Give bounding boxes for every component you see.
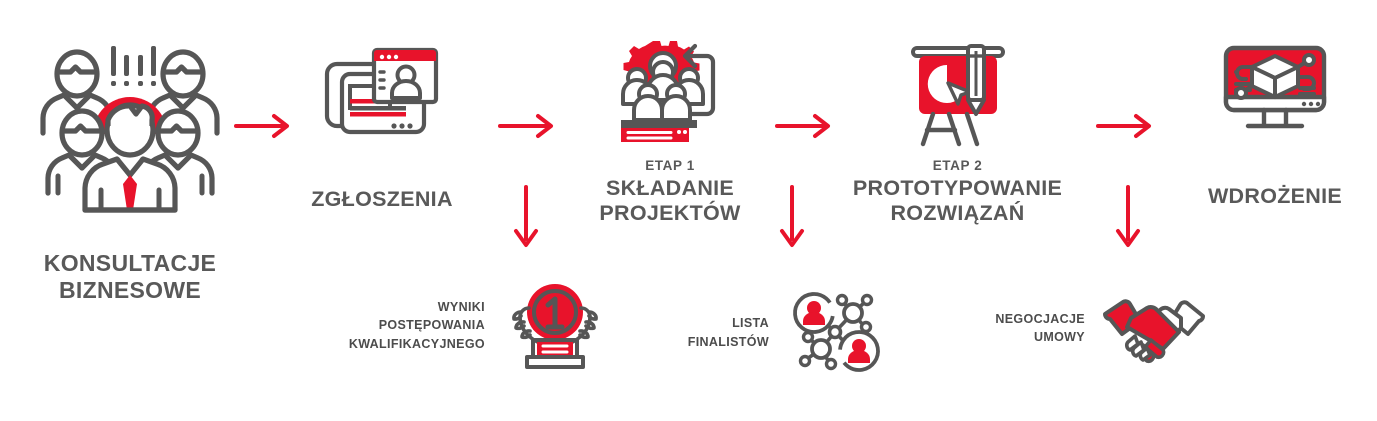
flow-arrow-down-1 [510, 185, 542, 253]
branch-node-negocjacje: NEGOCJACJE UMOWY [975, 288, 1209, 368]
process-flow-diagram: KONSULTACJE BIZNESOWE [0, 0, 1377, 421]
flow-node-prototypowanie: ETAP 2 PROTOTYPOWANIE ROZWIĄZAŃ [845, 36, 1070, 227]
flow-node-skladanie: ETAP 1 SKŁADANIE PROJEKTÓW [570, 36, 770, 227]
handshake-icon [1099, 288, 1209, 368]
branch-label-wyniki: WYNIKI POSTĘPOWANIA KWALIFIKACYJNEGO [335, 298, 485, 352]
discussion-marks [111, 46, 156, 86]
flow-node-label-skladanie: SKŁADANIE PROJEKTÓW [570, 176, 770, 227]
network-people-icon [783, 285, 883, 380]
flow-node-wdrozenie: WDROŻENIE [1175, 42, 1375, 209]
application-windows-profile-icon [322, 42, 442, 147]
flow-arrow-right-2 [498, 110, 558, 142]
team-gear-submission-icon [615, 36, 725, 146]
easel-chart-pencil-icon [899, 36, 1017, 148]
flow-node-label-konsultacje: KONSULTACJE BIZNESOWE [10, 250, 250, 304]
group-of-people-discussion-icon [30, 38, 230, 228]
flow-node-konsultacje: KONSULTACJE BIZNESOWE [10, 38, 250, 304]
trophy-award-icon [499, 278, 599, 373]
flow-node-stage-skladanie: ETAP 1 [570, 158, 770, 173]
flow-node-zgloszenia: ZGŁOSZENIA [282, 42, 482, 212]
branch-node-wyniki: WYNIKI POSTĘPOWANIA KWALIFIKACYJNEGO [335, 278, 599, 373]
monitor-cube-network-icon [1216, 42, 1334, 142]
flow-node-stage-prototypowanie: ETAP 2 [845, 158, 1070, 173]
branch-label-finalisci: LISTA FINALISTÓW [665, 314, 769, 350]
flow-node-label-wdrozenie: WDROŻENIE [1175, 184, 1375, 209]
flow-arrow-right-3 [775, 110, 835, 142]
flow-node-label-zgloszenia: ZGŁOSZENIA [282, 187, 482, 212]
flow-arrow-down-2 [776, 185, 808, 253]
branch-label-negocjacje: NEGOCJACJE UMOWY [975, 310, 1085, 346]
flow-node-label-prototypowanie: PROTOTYPOWANIE ROZWIĄZAŃ [845, 176, 1070, 227]
flow-arrow-right-4 [1096, 110, 1156, 142]
pencil-shape [968, 46, 984, 114]
branch-node-finalisci: LISTA FINALISTÓW [665, 285, 883, 380]
flow-arrow-down-3 [1112, 185, 1144, 253]
